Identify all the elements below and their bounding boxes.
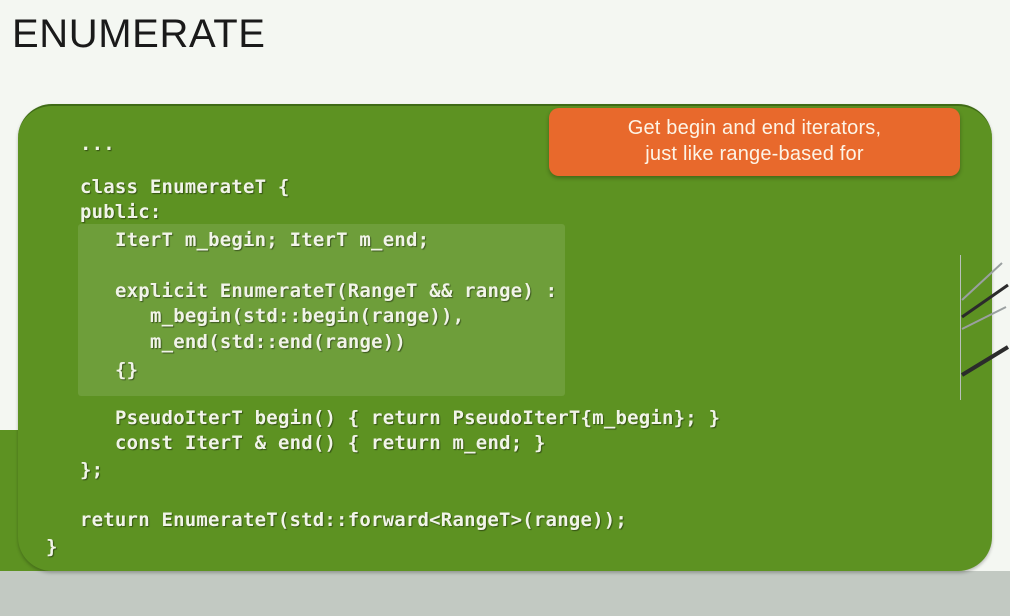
code-line: explicit EnumerateT(RangeT && range) : bbox=[115, 282, 557, 301]
code-line: public: bbox=[80, 203, 161, 222]
callout-line-2: just like range-based for bbox=[645, 143, 863, 165]
code-line: m_begin(std::begin(range)), bbox=[150, 307, 464, 326]
callout-box: Get begin and end iterators, just like r… bbox=[549, 108, 960, 176]
callout-line-1: Get begin and end iterators, bbox=[628, 117, 882, 139]
code-line: const IterT & end() { return m_end; } bbox=[115, 434, 546, 453]
code-block: ...class EnumerateT {public:IterT m_begi… bbox=[18, 106, 992, 573]
code-line: m_end(std::end(range)) bbox=[150, 333, 406, 352]
code-line: return EnumerateT(std::forward<RangeT>(r… bbox=[80, 511, 627, 530]
code-line: IterT m_begin; IterT m_end; bbox=[115, 231, 429, 250]
code-line: ... bbox=[80, 135, 115, 154]
code-line: PseudoIterT begin() { return PseudoIterT… bbox=[115, 409, 720, 428]
page-title: ENUMERATE bbox=[12, 12, 266, 57]
footer-band bbox=[0, 571, 1010, 616]
callout-text: Get begin and end iterators, just like r… bbox=[628, 116, 882, 167]
code-line: } bbox=[46, 538, 58, 557]
code-line: class EnumerateT { bbox=[80, 178, 290, 197]
code-line: {} bbox=[115, 361, 138, 380]
code-line: }; bbox=[80, 461, 103, 480]
presentation-slide: ENUMERATE ...class EnumerateT {public:It… bbox=[0, 0, 1010, 616]
